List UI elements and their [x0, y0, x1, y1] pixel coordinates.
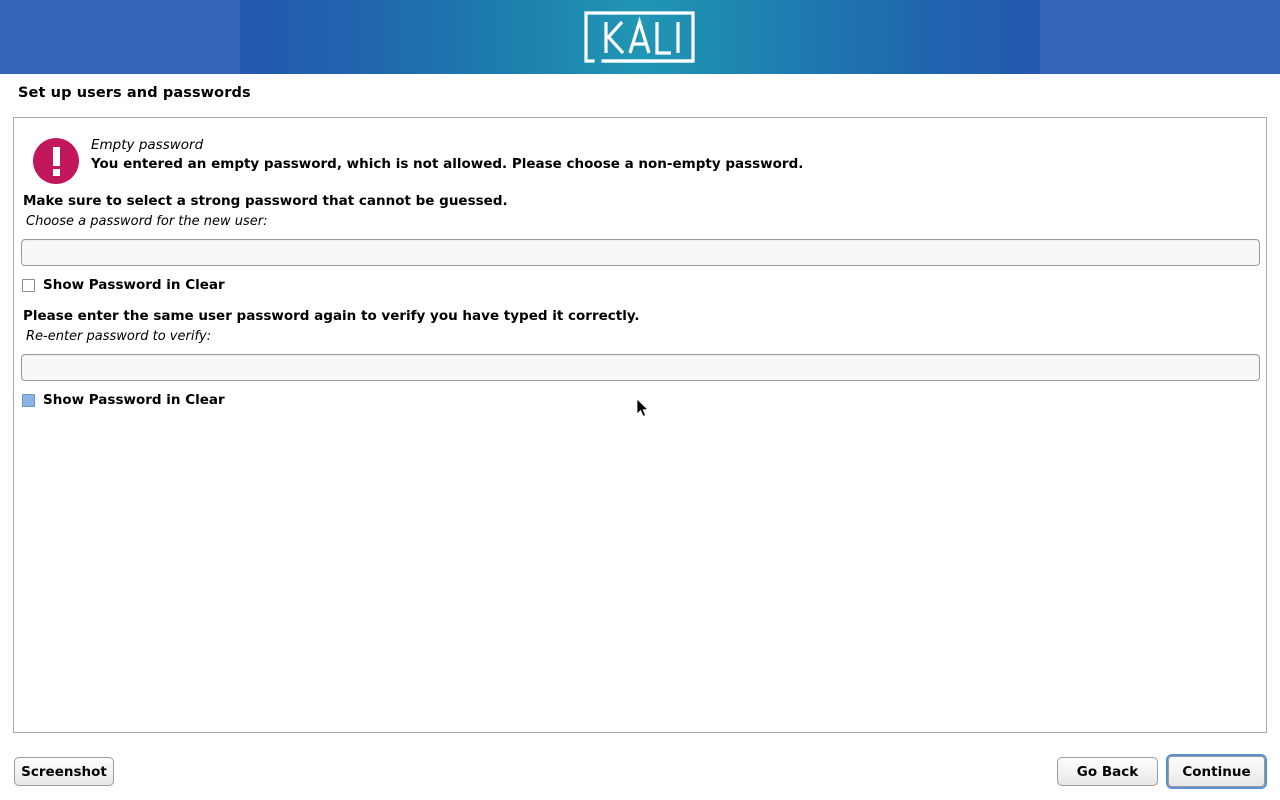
go-back-button[interactable]: Go Back — [1057, 757, 1158, 786]
show-password-clear-row-2[interactable]: Show Password in Clear — [22, 392, 225, 408]
show-password-clear-label-1: Show Password in Clear — [43, 277, 225, 293]
password-field-label: Choose a password for the new user: — [26, 214, 268, 229]
error-message-block: Empty password You entered an empty pass… — [23, 128, 1253, 188]
password-input-wrapper[interactable] — [21, 239, 1260, 266]
password-strength-heading: Make sure to select a strong password th… — [23, 193, 508, 209]
kali-header-banner — [0, 0, 1280, 74]
screenshot-button[interactable]: Screenshot — [14, 757, 114, 786]
verify-password-heading: Please enter the same user password agai… — [23, 308, 640, 324]
page-title: Set up users and passwords — [18, 85, 251, 101]
show-password-clear-row-1[interactable]: Show Password in Clear — [22, 277, 225, 293]
error-title: Empty password — [91, 137, 203, 153]
kali-logo — [583, 10, 696, 64]
verify-password-input[interactable] — [22, 355, 1259, 380]
continue-button[interactable]: Continue — [1168, 756, 1265, 787]
main-content-panel: Empty password You entered an empty pass… — [13, 117, 1267, 733]
installer-screen: Set up users and passwords Empty passwor… — [0, 0, 1280, 800]
error-exclamation-icon — [33, 138, 79, 184]
show-password-clear-checkbox-1[interactable] — [22, 279, 35, 292]
show-password-clear-checkbox-2[interactable] — [22, 394, 35, 407]
exclamation-bar — [53, 147, 60, 166]
password-input[interactable] — [22, 240, 1259, 265]
error-message-text: You entered an empty password, which is … — [91, 156, 803, 172]
verify-password-input-wrapper[interactable] — [21, 354, 1260, 381]
verify-field-label: Re-enter password to verify: — [26, 329, 211, 344]
exclamation-dot — [53, 169, 60, 176]
show-password-clear-label-2: Show Password in Clear — [43, 392, 225, 408]
